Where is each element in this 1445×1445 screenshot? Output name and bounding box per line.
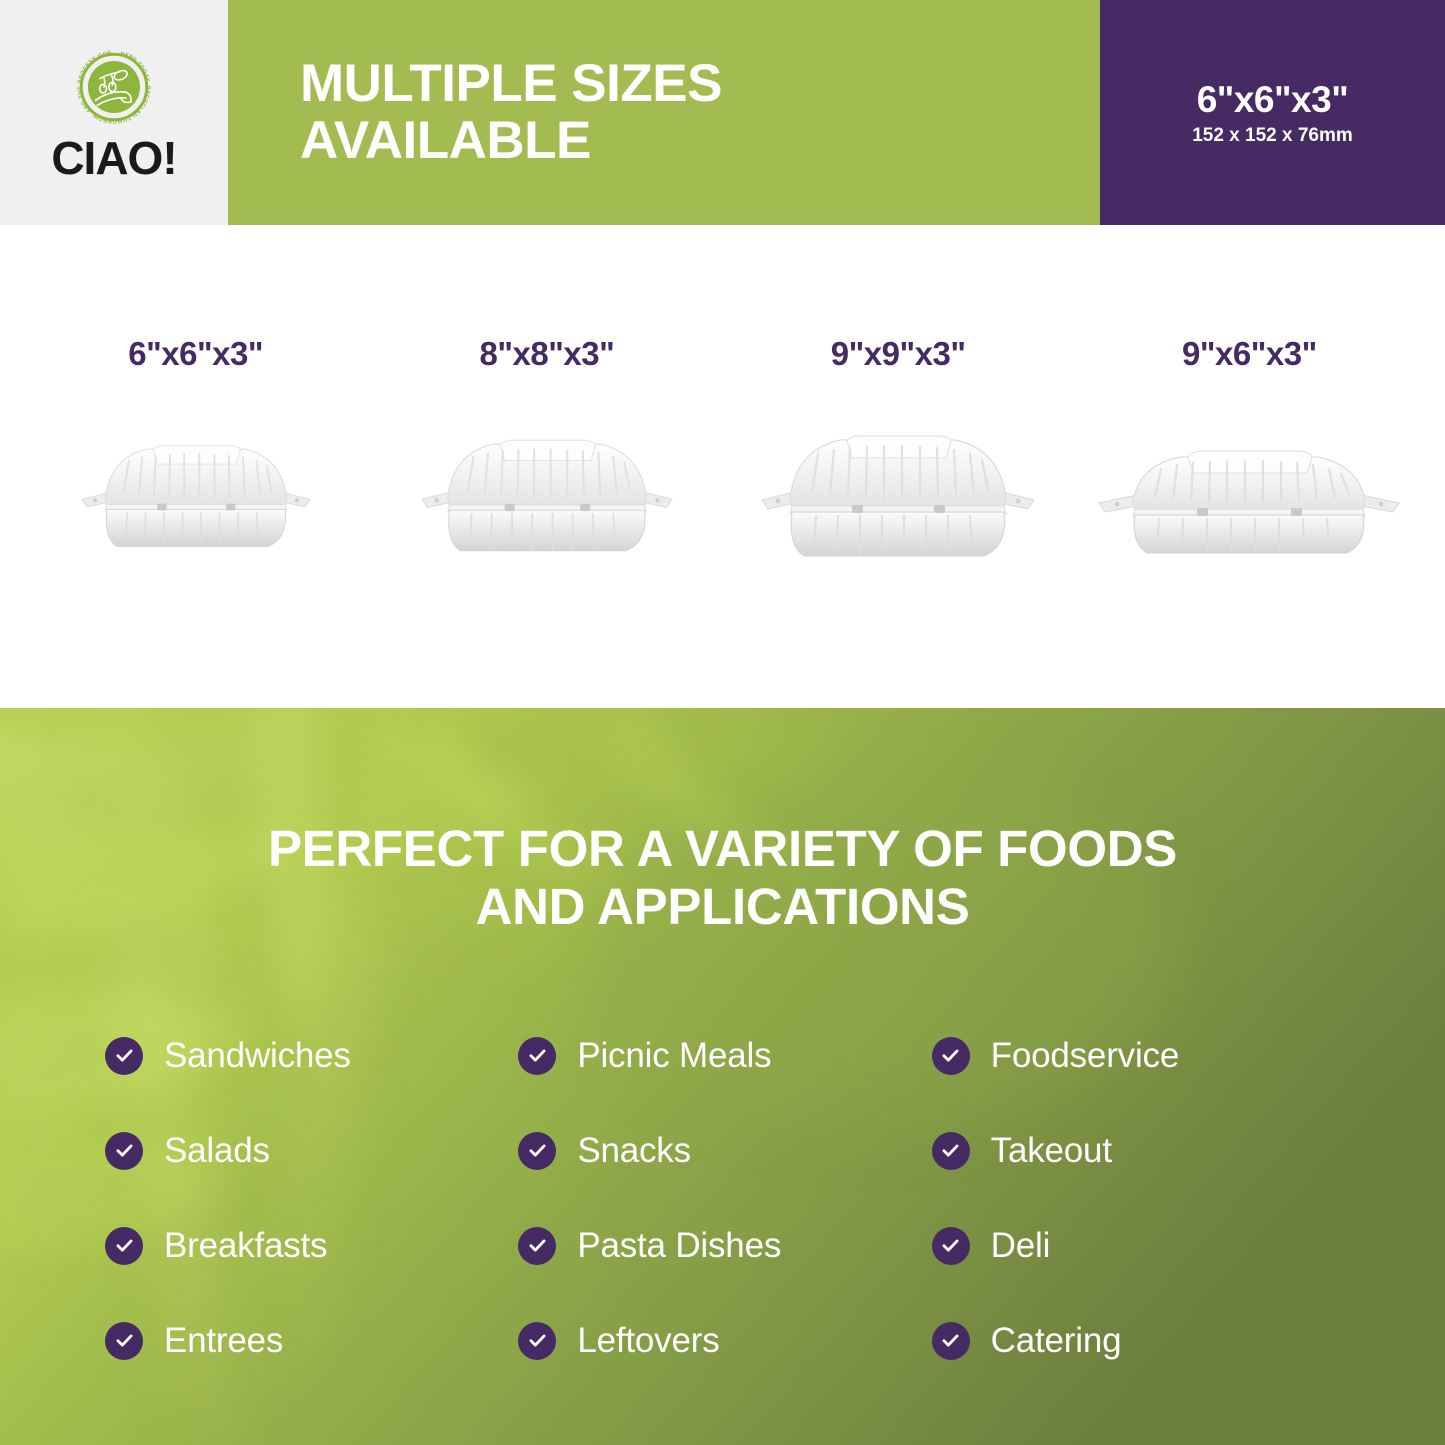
list-item: Sandwiches	[105, 1008, 518, 1103]
list-item: Takeout	[932, 1103, 1345, 1198]
page-title-line2: AVAILABLE	[300, 113, 722, 169]
hinged-clamshell-container-icon	[371, 401, 722, 591]
list-item-label: Snacks	[577, 1131, 691, 1171]
hinged-clamshell-container-icon	[1074, 401, 1425, 591]
product-size-label: 9"x6"x3"	[1182, 335, 1317, 373]
applications-section: PERFECT FOR A VARIETY OF FOODS AND APPLI…	[0, 708, 1445, 1445]
list-item-label: Breakfasts	[164, 1226, 327, 1266]
check-icon	[518, 1037, 556, 1075]
featured-size-inches: 6"x6"x3"	[1197, 79, 1349, 121]
applications-title-line2: AND APPLICATIONS	[120, 878, 1325, 936]
page-title: MULTIPLE SIZES AVAILABLE	[300, 56, 722, 168]
list-item: Snacks	[518, 1103, 931, 1198]
check-icon	[932, 1132, 970, 1170]
applications-title-line1: PERFECT FOR A VARIETY OF FOODS	[120, 820, 1325, 878]
product-size-label: 6"x6"x3"	[128, 335, 263, 373]
list-item-label: Pasta Dishes	[577, 1226, 781, 1266]
check-icon	[518, 1322, 556, 1360]
product-size-label: 8"x8"x3"	[480, 335, 615, 373]
list-item: Entrees	[105, 1293, 518, 1388]
list-item-label: Catering	[991, 1321, 1122, 1361]
list-item-label: Takeout	[991, 1131, 1112, 1171]
list-item-label: Leftovers	[577, 1321, 719, 1361]
page-title-line1: MULTIPLE SIZES	[300, 56, 722, 112]
applications-column: Foodservice Takeout Deli	[932, 1008, 1345, 1388]
product-grid: 6"x6"x3"	[0, 225, 1445, 708]
check-icon	[105, 1227, 143, 1265]
product-sizes-section: 6"x6"x3"	[0, 225, 1445, 708]
olive-branch-badge-icon: HERE TODAY, RECYCLED TOMORROW, AND THE P…	[72, 45, 156, 129]
header-bar: HERE TODAY, RECYCLED TOMORROW, AND THE P…	[0, 0, 1445, 225]
list-item-label: Deli	[991, 1226, 1051, 1266]
check-icon	[105, 1132, 143, 1170]
list-item: Pasta Dishes	[518, 1198, 931, 1293]
list-item: Picnic Meals	[518, 1008, 931, 1103]
list-item: Deli	[932, 1198, 1345, 1293]
applications-column: Picnic Meals Snacks Pasta Dishes	[518, 1008, 931, 1388]
applications-title: PERFECT FOR A VARIETY OF FOODS AND APPLI…	[0, 820, 1445, 936]
featured-size-mm: 152 x 152 x 76mm	[1192, 125, 1353, 147]
brand-wordmark: CIAO!	[51, 135, 176, 181]
applications-content: PERFECT FOR A VARIETY OF FOODS AND APPLI…	[0, 708, 1445, 1445]
product-cell: 8"x8"x3"	[371, 225, 722, 708]
product-cell: 6"x6"x3"	[20, 225, 371, 708]
list-item: Leftovers	[518, 1293, 931, 1388]
check-icon	[518, 1227, 556, 1265]
check-icon	[105, 1037, 143, 1075]
product-cell: 9"x9"x3"	[723, 225, 1074, 708]
check-icon	[105, 1322, 143, 1360]
check-icon	[932, 1322, 970, 1360]
list-item-label: Foodservice	[991, 1036, 1179, 1076]
list-item: Salads	[105, 1103, 518, 1198]
list-item-label: Sandwiches	[164, 1036, 351, 1076]
applications-columns: Sandwiches Salads Breakfasts	[0, 1008, 1445, 1388]
product-size-label: 9"x9"x3"	[831, 335, 966, 373]
product-cell: 9"x6"x3"	[1074, 225, 1425, 708]
list-item-label: Picnic Meals	[577, 1036, 771, 1076]
list-item-label: Entrees	[164, 1321, 283, 1361]
list-item: Foodservice	[932, 1008, 1345, 1103]
hinged-clamshell-container-icon	[723, 401, 1074, 591]
check-icon	[518, 1132, 556, 1170]
list-item: Breakfasts	[105, 1198, 518, 1293]
list-item: Catering	[932, 1293, 1345, 1388]
hinged-clamshell-container-icon	[20, 401, 371, 591]
infographic-page: HERE TODAY, RECYCLED TOMORROW, AND THE P…	[0, 0, 1445, 1445]
applications-column: Sandwiches Salads Breakfasts	[105, 1008, 518, 1388]
header-title-band: MULTIPLE SIZES AVAILABLE	[228, 0, 1100, 225]
check-icon	[932, 1227, 970, 1265]
featured-size-badge: 6"x6"x3" 152 x 152 x 76mm	[1100, 0, 1445, 225]
check-icon	[932, 1037, 970, 1075]
brand-logo-panel: HERE TODAY, RECYCLED TOMORROW, AND THE P…	[0, 0, 228, 225]
list-item-label: Salads	[164, 1131, 270, 1171]
